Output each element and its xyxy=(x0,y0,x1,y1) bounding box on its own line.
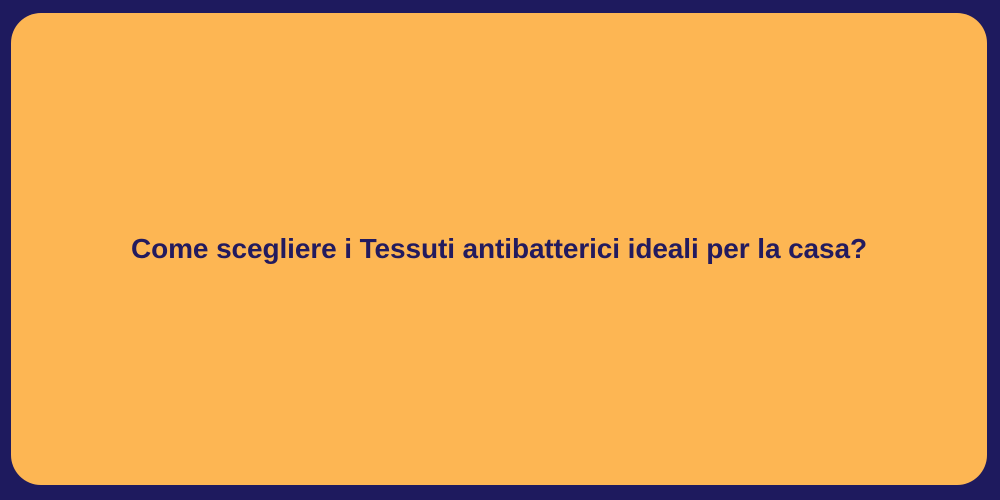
page-title: Come scegliere i Tessuti antibatterici i… xyxy=(11,232,987,266)
banner-panel: Come scegliere i Tessuti antibatterici i… xyxy=(11,13,987,485)
banner-frame: Come scegliere i Tessuti antibatterici i… xyxy=(0,0,1000,500)
